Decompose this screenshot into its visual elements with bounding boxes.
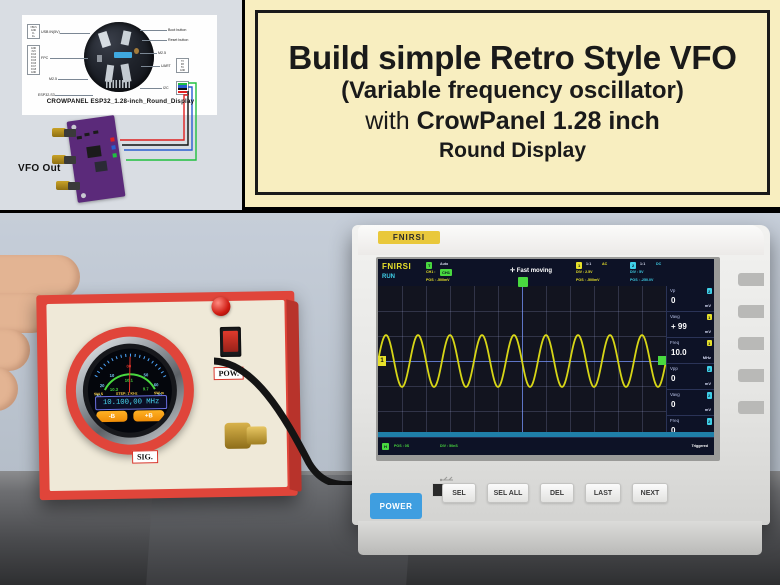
measurement-name: Vpp <box>670 366 678 371</box>
side-button[interactable] <box>738 401 764 414</box>
channel-1-badge[interactable]: 1 <box>576 262 582 269</box>
module-pad <box>112 153 117 158</box>
waveform-plot[interactable]: 1 <box>378 286 666 437</box>
channel-2-div: DIV : 5V <box>630 270 644 274</box>
finger <box>0 329 30 371</box>
measurement-name: Vp <box>670 288 675 293</box>
channel-2-probe: 1:1 <box>640 262 645 266</box>
oscilloscope-base <box>358 521 762 555</box>
measurement-row[interactable]: Vpp 2 0 mV <box>667 364 714 390</box>
channel-1-probe: 1:1 <box>586 262 591 266</box>
module-ic <box>94 161 107 173</box>
photo-area: 20 30 10 00 50 60 70 10.3 10.1 9.7 <box>0 213 780 585</box>
wiring-diagram-panel: VBUS GND D- D+ GND 3V3 IO13 IO14 IO15 IO… <box>0 0 245 213</box>
channel-2-badge[interactable]: 2 <box>630 262 636 269</box>
measurement-name: Vavg <box>670 392 680 397</box>
vfo-out-label: VFO Out <box>18 163 61 174</box>
title-line-3-prefix: with <box>365 107 416 135</box>
lcd-bottom-status-bar: H POS : 0S DIV : 50nS Triggered <box>378 437 714 455</box>
run-state: RUN <box>382 274 395 280</box>
module-resistor <box>77 136 82 140</box>
trigger-position-marker[interactable] <box>518 277 528 287</box>
oscilloscope-body: FNIRSI FNIRSI RUN T Auto C <box>352 225 770 525</box>
module-resistor <box>93 130 98 134</box>
trigger-source-label: CH1 : <box>426 270 435 274</box>
power-button[interactable]: POWER <box>370 493 422 519</box>
channel-1-div: DIV : 2.5V <box>576 270 593 274</box>
measurement-value: + 99 <box>671 322 687 331</box>
measurement-channel: 2 <box>707 288 712 294</box>
title-card: Build simple Retro Style VFO (Variable f… <box>245 0 780 210</box>
display-bezel-outer: 20 30 10 00 50 60 70 10.3 10.1 9.7 <box>65 326 195 456</box>
trigger-pos: POS : -500mV <box>426 278 450 282</box>
center-hint: ✛ Fast moving <box>510 267 552 274</box>
trigger-status: Triggered <box>692 444 708 448</box>
button-next[interactable]: NEXT <box>632 483 668 503</box>
channel-2-marker[interactable] <box>658 356 666 365</box>
button-sel-all[interactable]: SEL ALL <box>487 483 529 503</box>
channel-1-pos: POS : -500mV <box>576 278 600 282</box>
module-mount-hole <box>81 193 87 199</box>
horizontal-pos: POS : 0S <box>394 444 409 448</box>
frequency-display[interactable]: 10.100,00 MHz <box>95 395 167 410</box>
module-resistor <box>84 133 89 137</box>
dial-number-inner: 9.7 <box>143 386 149 391</box>
brand-badge: FNIRSI <box>378 231 440 244</box>
measurement-value: 0 <box>671 400 675 409</box>
side-button[interactable] <box>738 369 764 382</box>
timebase-bar[interactable] <box>378 432 714 437</box>
module-pad <box>110 137 115 142</box>
button-increment-band[interactable]: +B <box>133 410 164 422</box>
display-bezel-inner: 20 30 10 00 50 60 70 10.3 10.1 9.7 <box>82 343 178 439</box>
measurement-row[interactable]: Freq 1 10.0 MHz <box>667 338 714 364</box>
dial-number: 20 <box>100 383 105 388</box>
dial-number: 10 <box>110 373 115 378</box>
measurement-name: Freq <box>670 340 679 345</box>
horizontal-marker[interactable]: H <box>382 443 389 450</box>
measurement-unit: mV <box>705 381 711 386</box>
trigger-source-value: CH1 <box>440 269 452 276</box>
dial-number: 60 <box>154 382 159 387</box>
measurement-value: 10.0 <box>671 348 687 357</box>
measurement-row[interactable]: Vavg 2 0 mV <box>667 390 714 416</box>
waveform-trace <box>378 286 666 437</box>
measurement-row[interactable]: Vp 2 0 mV <box>667 286 714 312</box>
frequency-value: 10.100,00 MHz <box>103 398 159 407</box>
video-thumbnail: VBUS GND D- D+ GND 3V3 IO13 IO14 IO15 IO… <box>0 0 780 585</box>
button-decrement-band[interactable]: -B <box>96 411 127 423</box>
trigger-mode: Auto <box>440 262 448 266</box>
button-last[interactable]: LAST <box>585 483 621 503</box>
measurement-unit: mV <box>705 303 711 308</box>
front-button-row: SEL SEL ALL DEL LAST NEXT <box>442 483 762 507</box>
button-sel[interactable]: SEL <box>442 483 476 503</box>
sma-connector <box>52 128 76 137</box>
coax-cable <box>214 345 364 485</box>
title-line-4: Round Display <box>439 137 586 164</box>
module-pad <box>111 145 116 150</box>
side-button[interactable] <box>738 337 764 350</box>
button-del[interactable]: DEL <box>540 483 574 503</box>
module-ic <box>86 145 101 158</box>
diagram-caption: CROWPANEL ESP32_1.28-inch_Round_Display <box>28 98 213 105</box>
trigger-icon[interactable]: T <box>426 262 432 269</box>
measurement-value: 0 <box>671 374 675 383</box>
side-button[interactable] <box>738 273 764 286</box>
measurement-unit: MHz <box>703 355 711 360</box>
round-display-screen[interactable]: 20 30 10 00 50 60 70 10.3 10.1 9.7 <box>87 348 172 433</box>
measurement-value: 0 <box>671 296 675 305</box>
measurement-channel: 2 <box>707 392 712 398</box>
measurement-channel: 1 <box>707 340 712 346</box>
title-line-3: with CrowPanel 1.28 inch <box>365 106 660 137</box>
title-line-2: (Variable frequency oscillator) <box>341 76 684 106</box>
power-led <box>211 297 230 316</box>
horizontal-div: DIV : 50nS <box>440 444 458 448</box>
oscilloscope: FNIRSI FNIRSI RUN T Auto C <box>352 225 770 555</box>
channel-2-coupling: DC <box>656 262 661 266</box>
title-line-1: Build simple Retro Style VFO <box>288 40 736 76</box>
measurement-name: Vavg <box>670 314 680 319</box>
channel-1-coupling: AC <box>602 262 607 266</box>
measurement-channel: 1 <box>707 314 712 320</box>
measurement-unit: mV <box>705 329 711 334</box>
side-button[interactable] <box>738 305 764 318</box>
measurement-name: Freq <box>670 418 679 423</box>
sma-connector <box>56 181 80 190</box>
measurement-channel: 2 <box>707 418 712 424</box>
display-bezel-chrome: 20 30 10 00 50 60 70 10.3 10.1 9.7 <box>75 336 185 446</box>
measurement-channel: 2 <box>707 366 712 372</box>
dial-number: 50 <box>144 372 149 377</box>
lcd-top-status-bar: FNIRSI RUN T Auto CH1 : CH1 POS : -500mV… <box>378 259 714 287</box>
label-signal: SIG. <box>132 450 158 463</box>
oscilloscope-top-bezel: FNIRSI <box>358 225 764 255</box>
measurement-unit: mV <box>705 407 711 412</box>
finger <box>0 367 18 411</box>
channel-2-pos: POS : -250.0V <box>630 278 653 282</box>
scope-brand-text: FNIRSI <box>382 262 411 271</box>
measurement-row[interactable]: Vavg 1 + 99 mV <box>667 312 714 338</box>
lcd-frame: FNIRSI RUN T Auto CH1 : CH1 POS : -500mV… <box>376 257 720 461</box>
title-line-3-main: CrowPanel 1.28 inch <box>417 107 660 135</box>
channel-1-marker[interactable]: 1 <box>378 356 386 366</box>
title-card-border: Build simple Retro Style VFO (Variable f… <box>255 10 770 195</box>
lcd-screen[interactable]: FNIRSI RUN T Auto CH1 : CH1 POS : -500mV… <box>378 259 714 455</box>
measurement-panel: Vp 2 0 mV Vavg 1 + 99 mV <box>666 286 714 437</box>
usb-icon <box>440 475 458 483</box>
